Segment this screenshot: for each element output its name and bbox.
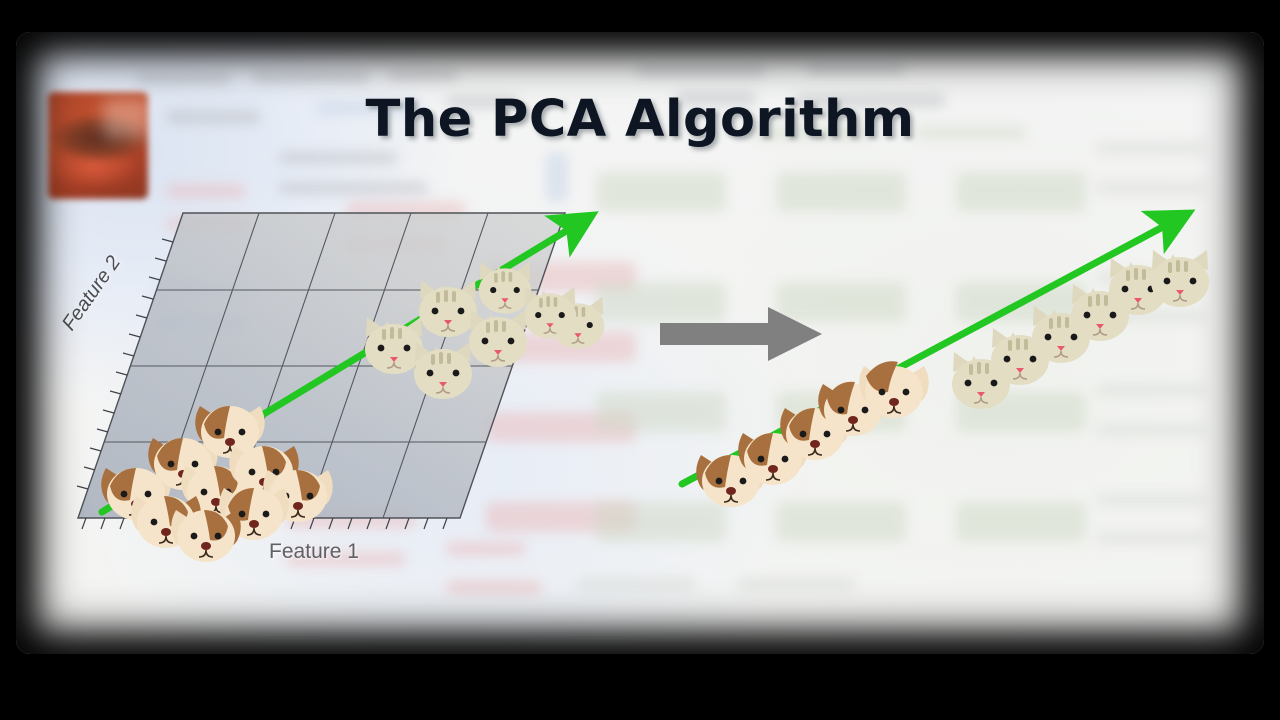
- presentation-slide: The PCA Algorithm: [16, 32, 1264, 654]
- screenshot-root: The PCA Algorithm: [0, 0, 1280, 720]
